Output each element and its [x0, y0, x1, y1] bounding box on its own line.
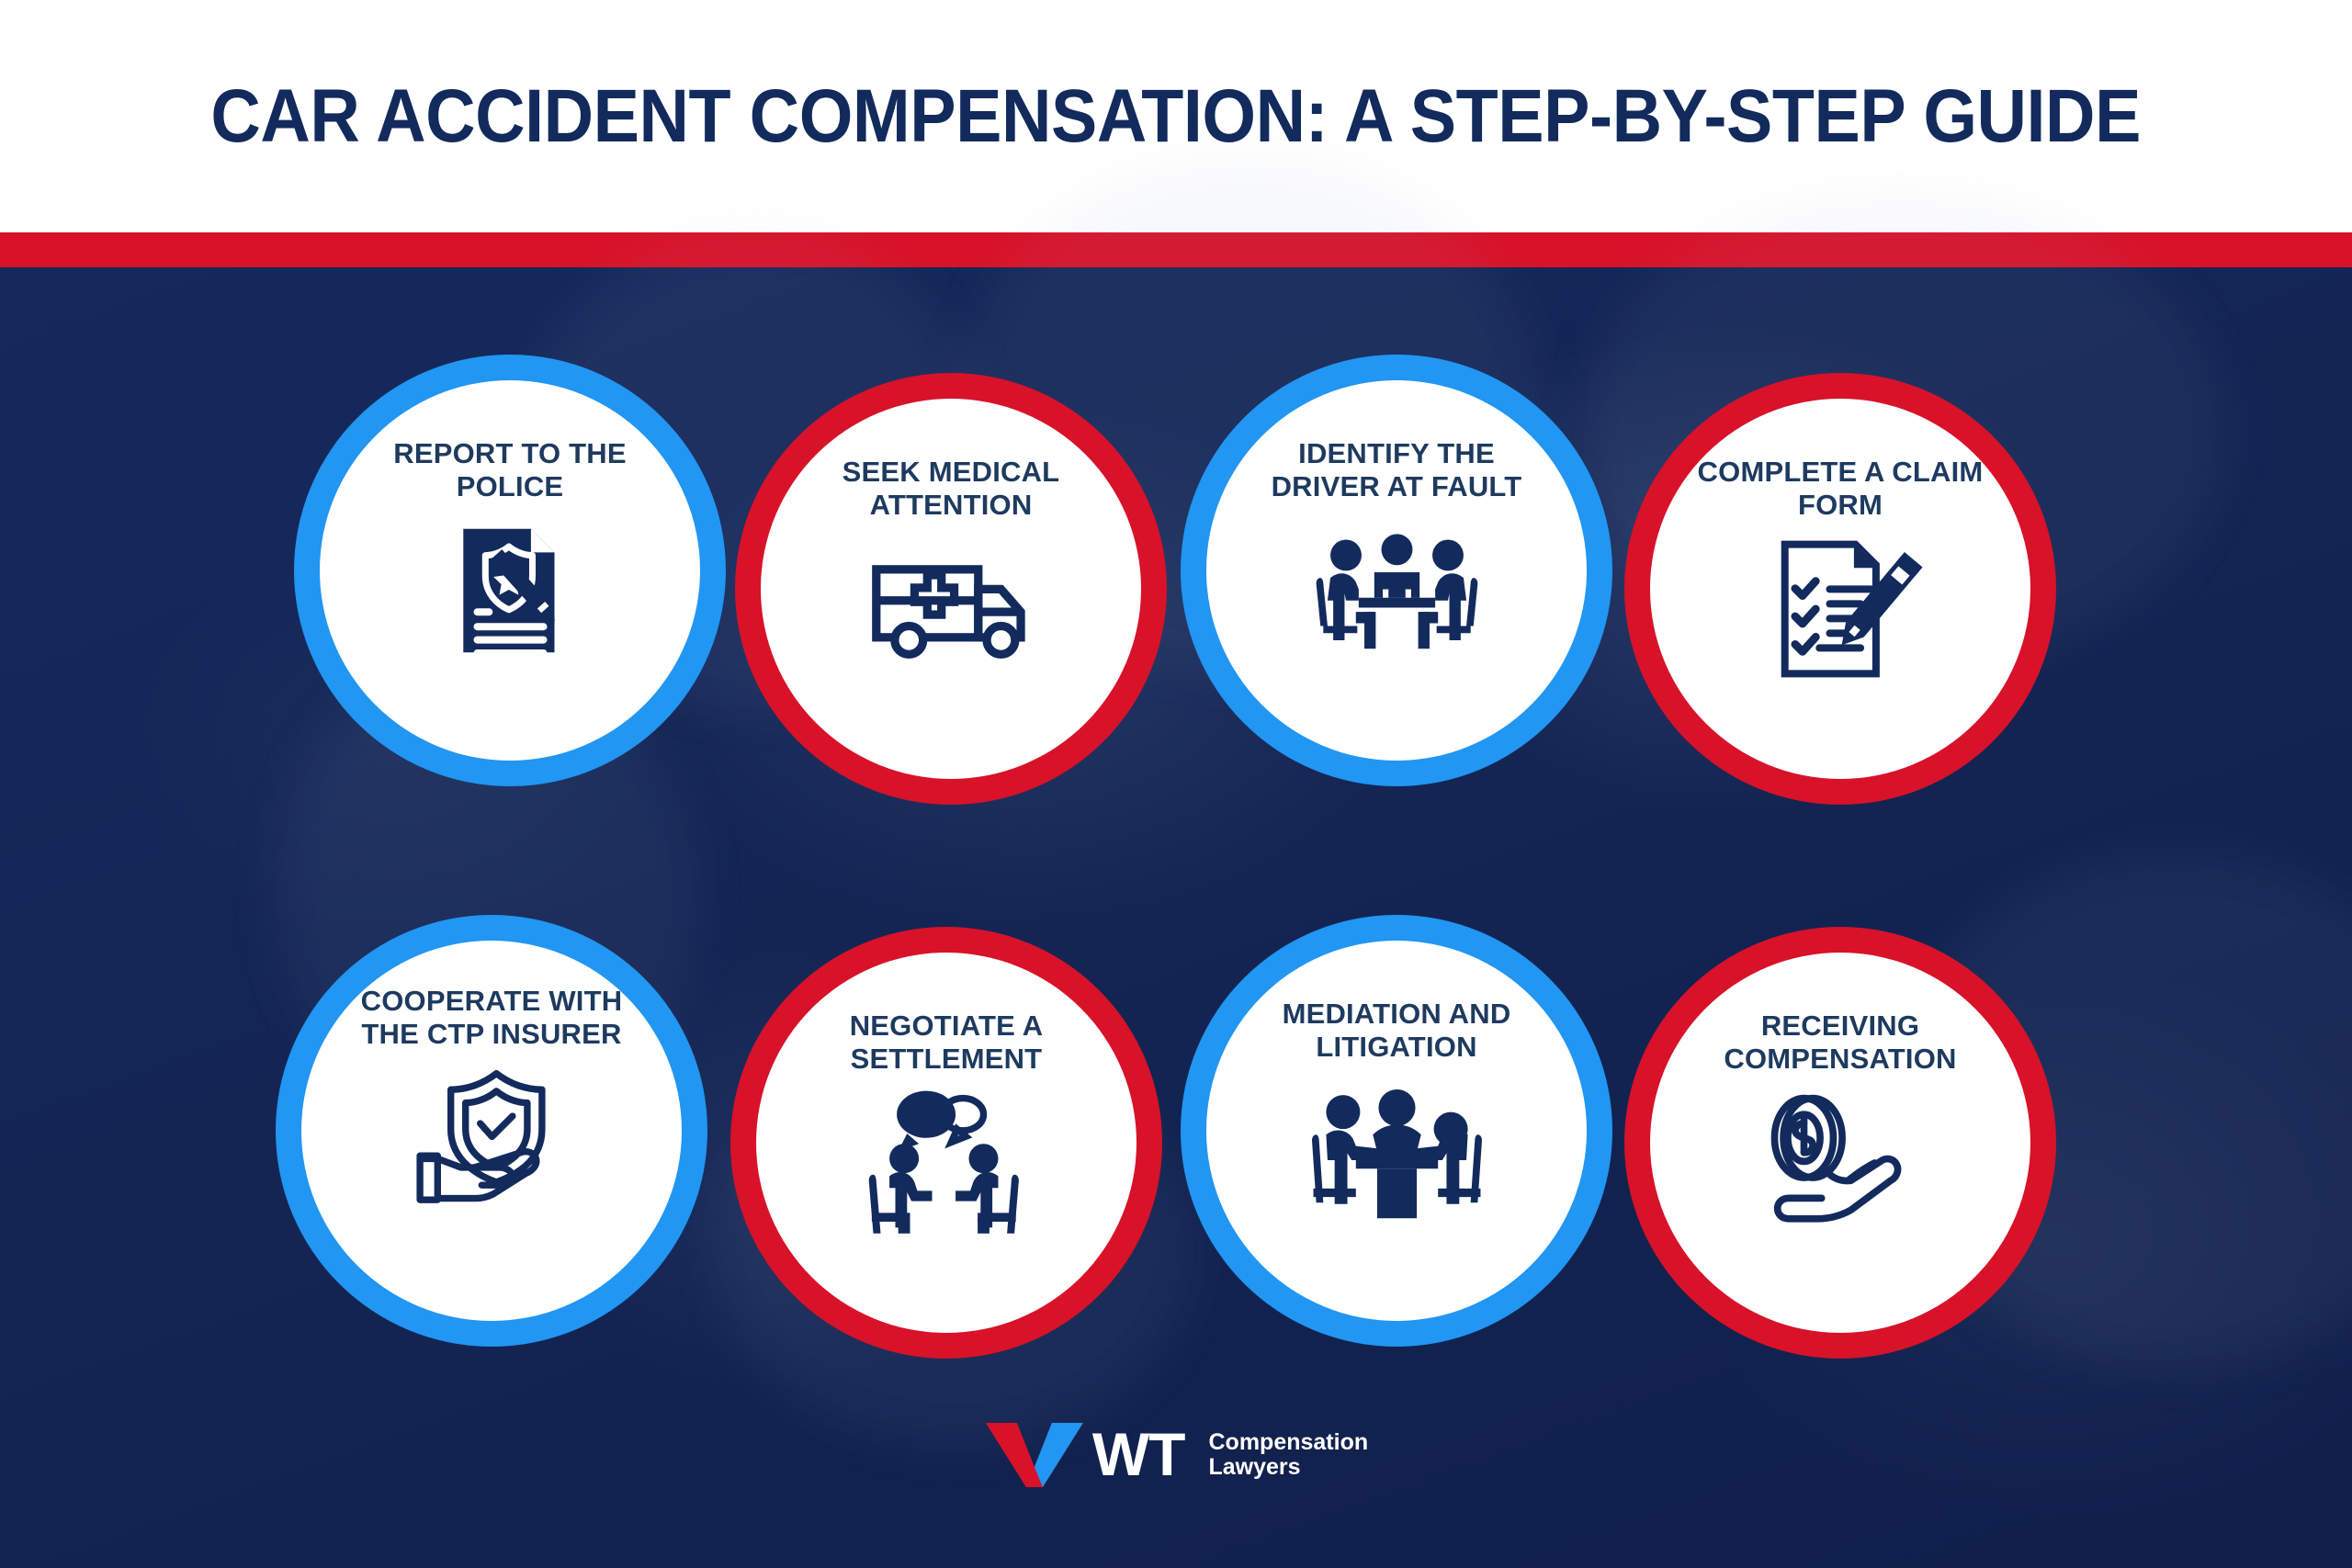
hand-with-coin-icon [1756, 1089, 1926, 1236]
step-card-1[interactable]: REPORT TO THE POLICE [294, 355, 726, 786]
step-disc: COOPERATE WITH THE CTP INSURER [301, 941, 682, 1321]
step-disc: MEDIATION AND LITIGATION [1206, 941, 1587, 1321]
step-card-8[interactable]: RECEIVING COMPENSATION [1624, 927, 2056, 1359]
step-label: COOPERATE WITH THE CTP INSURER [340, 985, 643, 1052]
brand-logo[interactable]: WT Compensation Lawyers [984, 1419, 1368, 1491]
step-label: REPORT TO THE POLICE [358, 437, 661, 504]
wt-chevron-logo-mark [984, 1419, 1085, 1491]
step-card-7[interactable]: MEDIATION AND LITIGATION [1181, 915, 1612, 1347]
step-card-6[interactable]: NEGOTIATE A SETTLEMENT [730, 927, 1162, 1359]
infographic-canvas: CAR ACCIDENT COMPENSATION: A STEP-BY-STE… [0, 0, 2352, 1568]
step-disc: COMPLETE A CLAIM FORM [1650, 399, 2030, 779]
people-at-table-icon [1312, 517, 1482, 664]
ambulance-icon [866, 536, 1036, 682]
logo-tagline-line1: Compensation [1208, 1430, 1368, 1455]
step-label: IDENTIFY THE DRIVER AT FAULT [1245, 437, 1548, 504]
step-disc: NEGOTIATE A SETTLEMENT [756, 953, 1136, 1333]
logo-initials: WT [1092, 1427, 1185, 1482]
step-card-2[interactable]: SEEK MEDICAL ATTENTION [735, 373, 1167, 805]
checklist-with-pen-icon [1756, 536, 1926, 682]
step-disc: REPORT TO THE POLICE [320, 380, 700, 761]
mediation-table-icon [1312, 1077, 1482, 1224]
two-people-talking-icon [862, 1089, 1032, 1236]
step-disc: SEEK MEDICAL ATTENTION [761, 399, 1141, 779]
step-label: MEDIATION AND LITIGATION [1245, 998, 1548, 1065]
police-report-document-icon [425, 517, 595, 664]
step-label: SEEK MEDICAL ATTENTION [799, 456, 1102, 523]
step-label: RECEIVING COMPENSATION [1689, 1010, 1992, 1077]
step-card-3[interactable]: IDENTIFY THE DRIVER AT FAULT [1181, 355, 1612, 786]
step-card-5[interactable]: COOPERATE WITH THE CTP INSURER [276, 915, 707, 1347]
step-label: NEGOTIATE A SETTLEMENT [795, 1010, 1098, 1077]
step-disc: IDENTIFY THE DRIVER AT FAULT [1206, 380, 1587, 761]
step-card-4[interactable]: COMPLETE A CLAIM FORM [1624, 373, 2056, 805]
hand-holding-shield-check-icon [407, 1065, 577, 1212]
step-disc: RECEIVING COMPENSATION [1650, 953, 2030, 1333]
logo-tagline-line2: Lawyers [1208, 1455, 1368, 1480]
steps-grid: REPORT TO THE POLICE [0, 267, 2352, 1568]
page-title: CAR ACCIDENT COMPENSATION: A STEP-BY-STE… [211, 73, 2142, 160]
step-label: COMPLETE A CLAIM FORM [1689, 456, 1992, 523]
logo-tagline: Compensation Lawyers [1208, 1430, 1368, 1480]
